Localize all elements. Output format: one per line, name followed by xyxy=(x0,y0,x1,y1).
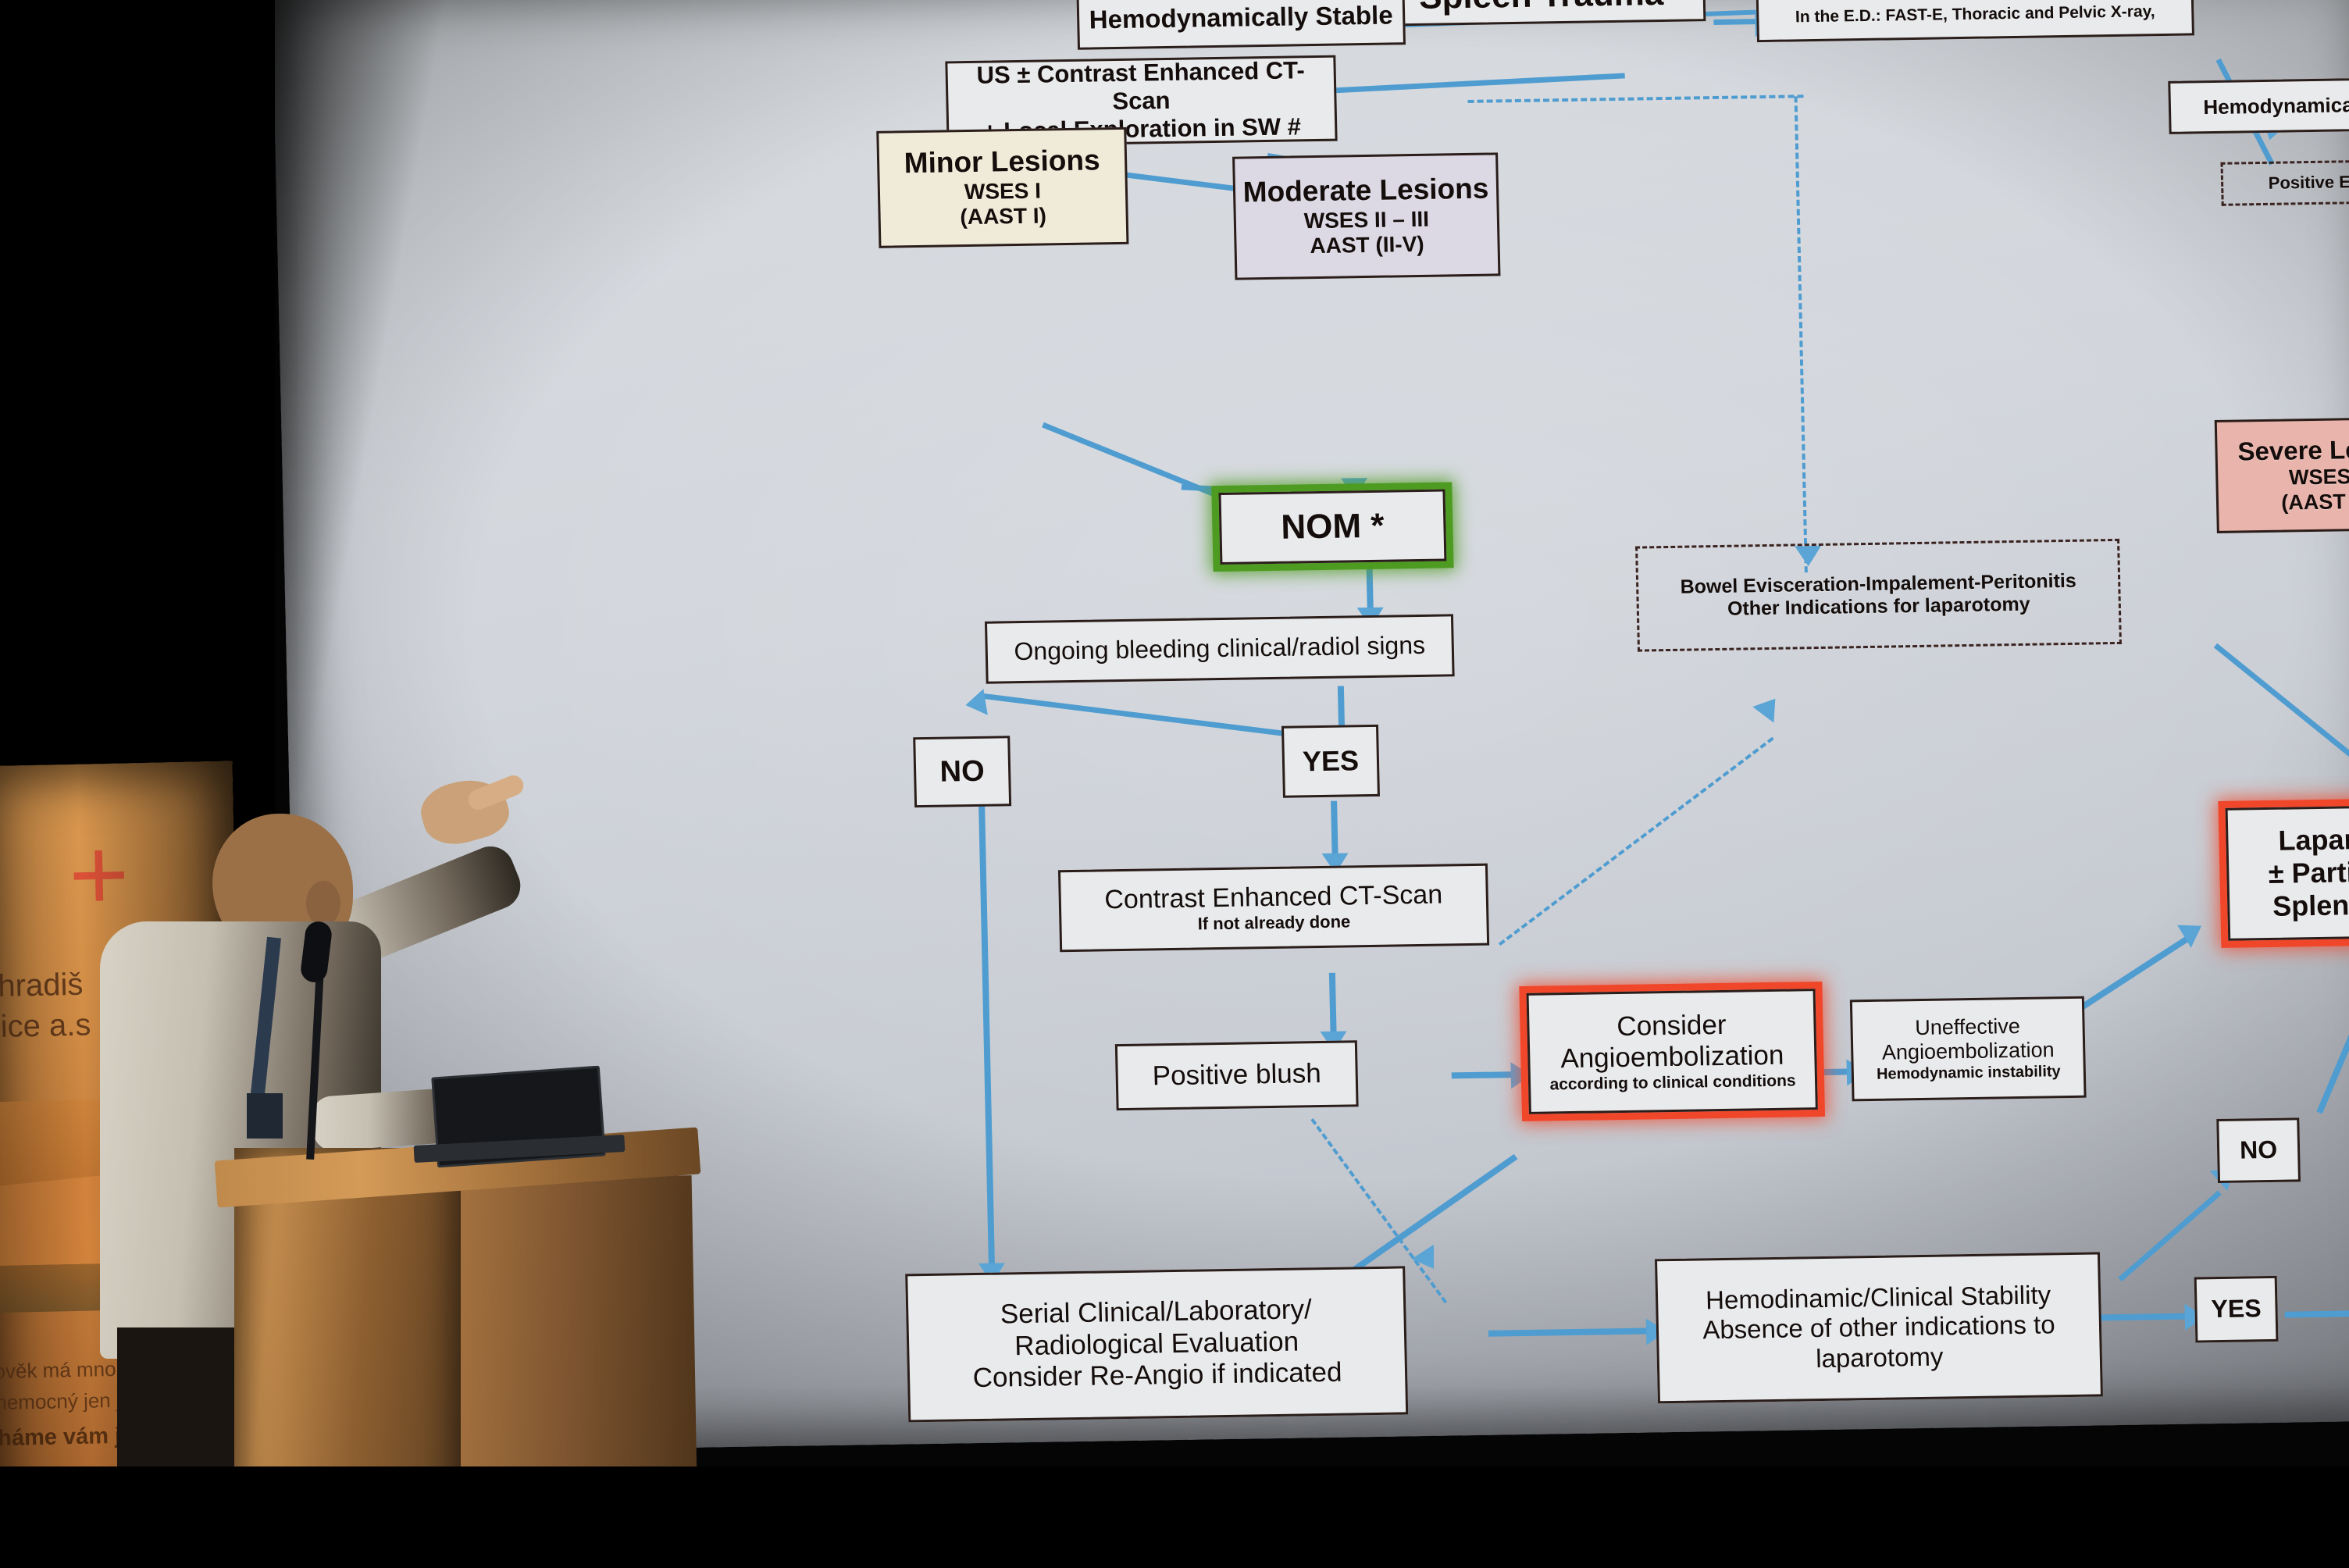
slide-bottom-mask xyxy=(0,1466,2349,1568)
node-laparotomy-line2: ± Partial/Total xyxy=(2268,854,2349,889)
node-ct-scan[interactable]: Contrast Enhanced CT-Scan If not already… xyxy=(1058,864,1489,953)
node-positive-blush[interactable]: Positive blush xyxy=(1115,1040,1359,1110)
connector-no-to-serial xyxy=(978,803,995,1279)
node-hemo-stability[interactable]: Hemodinamic/Clinical Stability Absence o… xyxy=(1655,1252,2103,1403)
node-severe-wses: WSES IV xyxy=(2289,465,2349,490)
connector-ct-to-bowel xyxy=(1499,737,1774,946)
connector-trauma-to-ed xyxy=(1713,19,1760,25)
node-uneffective-angio[interactable]: Uneffective Angioembolization Hemodynami… xyxy=(1850,996,2087,1102)
node-ongoing-bleeding-label: Ongoing bleeding clinical/radiol signs xyxy=(1014,631,1425,666)
node-laparotomy-line1: Laparotomy xyxy=(2278,822,2349,857)
node-spleen-trauma[interactable]: Spleen Trauma xyxy=(1377,0,1706,27)
node-ct-scan-line1: Contrast Enhanced CT-Scan xyxy=(1104,880,1443,916)
connector-usct-to-bowel xyxy=(1468,94,1804,103)
node-laparotomy-line3: Splenectomy xyxy=(2272,887,2349,922)
node-minor-aast: (AAST I) xyxy=(960,204,1046,230)
connector-usct-to-bowel-v xyxy=(1795,96,1808,572)
arrowhead-no1 xyxy=(964,689,988,718)
node-hemo-unstable-label: Hemodynamically Unstable ● xyxy=(2203,91,2349,119)
node-minor-title: Minor Lesions xyxy=(904,144,1100,180)
node-no-2-label: NO xyxy=(2240,1135,2278,1165)
node-positive-efast[interactable]: Positive E-FAST xyxy=(2221,159,2349,206)
node-ed-workup[interactable]: In the E.D.: FAST-E, Thoracic and Pelvic… xyxy=(1756,0,2194,42)
node-consider-angio[interactable]: Consider Angioembolization according to … xyxy=(1527,989,1818,1114)
arrowhead-bowel-2 xyxy=(1752,690,1786,722)
node-uneff-line1: Uneffective xyxy=(1915,1014,2020,1040)
node-moderate-aast: AAST (II-V) xyxy=(1310,232,1424,259)
node-yes-2-label: YES xyxy=(2211,1295,2262,1324)
connector-stability-to-yes xyxy=(2098,1313,2191,1321)
node-us-ct-line1: US ± Contrast Enhanced CT-Scan xyxy=(947,56,1335,119)
node-serial-line1: Serial Clinical/Laboratory/ xyxy=(1000,1294,1313,1331)
node-ct-scan-line2: If not already done xyxy=(1197,912,1350,935)
node-bowel-line2: Other Indications for laparotomy xyxy=(1727,593,2030,620)
node-ongoing-bleeding[interactable]: Ongoing bleeding clinical/radiol signs xyxy=(985,614,1455,683)
node-no-1[interactable]: NO xyxy=(913,736,1011,807)
node-spleen-trauma-label: Spleen Trauma xyxy=(1419,0,1664,17)
node-severe-title: Severe Lesions xyxy=(2237,434,2349,467)
node-yes-1[interactable]: YES xyxy=(1281,725,1380,798)
banner-line-1: skohradiš xyxy=(0,968,84,1006)
banner-logo-h: h xyxy=(0,805,2,928)
node-bowel-indications[interactable]: Bowel Evisceration-Impalement-Peritoniti… xyxy=(1635,539,2122,652)
node-yes-2[interactable]: YES xyxy=(2194,1276,2279,1343)
node-yes-1-label: YES xyxy=(1302,744,1359,778)
node-no-1-label: NO xyxy=(939,754,985,789)
node-angio-line1: Consider xyxy=(1616,1010,1727,1043)
banner-logo-plus-icon: + xyxy=(68,814,130,934)
connector-serial-to-stability xyxy=(1488,1327,1652,1336)
node-no-2[interactable]: NO xyxy=(2216,1117,2301,1183)
node-hemo-stable[interactable]: Hemodynamically Stable xyxy=(1076,0,1406,50)
node-uneff-line3: Hemodynamic instability xyxy=(1877,1063,2061,1084)
node-angio-line3: according to clinical conditions xyxy=(1549,1071,1796,1094)
node-moderate-lesions[interactable]: Moderate Lesions WSES II – III AAST (II-… xyxy=(1232,152,1500,280)
banner-line-2: ocnice a.s xyxy=(0,1008,91,1046)
connector-bleeding-to-no xyxy=(982,693,1309,739)
node-minor-wses: WSES I xyxy=(964,179,1042,205)
node-stability-line3: laparotomy xyxy=(1816,1342,1944,1374)
connector-stability-to-no2 xyxy=(2118,1191,2221,1282)
node-stability-line2: Absence of other indications to xyxy=(1702,1310,2055,1345)
node-hemo-stable-label: Hemodynamically Stable xyxy=(1089,0,1393,34)
speaker-ear xyxy=(306,881,340,926)
presentation-photo: Spleen Trauma In the E.D.: FAST-E, Thora… xyxy=(0,0,2349,1568)
node-serial-evaluation[interactable]: Serial Clinical/Laboratory/ Radiological… xyxy=(905,1266,1408,1422)
connector-no2-to-lap xyxy=(2316,982,2349,1114)
connector-bowel-to-lap xyxy=(2214,643,2349,781)
node-angio-line2: Angioembolization xyxy=(1560,1040,1784,1075)
node-severe-aast: (AAST I-V) xyxy=(2281,489,2349,515)
node-minor-lesions[interactable]: Minor Lesions WSES I (AAST I) xyxy=(876,127,1128,248)
speaker-badge xyxy=(247,1093,283,1139)
node-serial-line2: Radiological Evaluation xyxy=(1014,1326,1299,1362)
node-positive-blush-label: Positive blush xyxy=(1152,1058,1321,1092)
node-uneff-line2: Angioembolization xyxy=(1882,1039,2055,1066)
connector-yes-to-continue xyxy=(2285,1310,2349,1318)
arrowhead-serial-dash xyxy=(1412,1245,1445,1276)
node-serial-line3: Consider Re-Angio if indicated xyxy=(972,1357,1342,1395)
node-moderate-wses: WSES II – III xyxy=(1303,207,1429,234)
node-hemo-unstable[interactable]: Hemodynamically Unstable ● xyxy=(2168,76,2349,134)
node-nom-label: NOM * xyxy=(1281,506,1385,547)
node-laparotomy[interactable]: Laparotomy ± Partial/Total Splenectomy xyxy=(2226,804,2349,940)
node-positive-efast-label: Positive E-FAST xyxy=(2268,171,2349,193)
node-nom[interactable]: NOM * xyxy=(1218,489,1446,565)
node-severe-lesions[interactable]: Severe Lesions WSES IV (AAST I-V) xyxy=(2215,416,2349,533)
node-moderate-title: Moderate Lesions xyxy=(1242,173,1488,210)
node-ed-workup-label: In the E.D.: FAST-E, Thoracic and Pelvic… xyxy=(1795,2,2155,27)
